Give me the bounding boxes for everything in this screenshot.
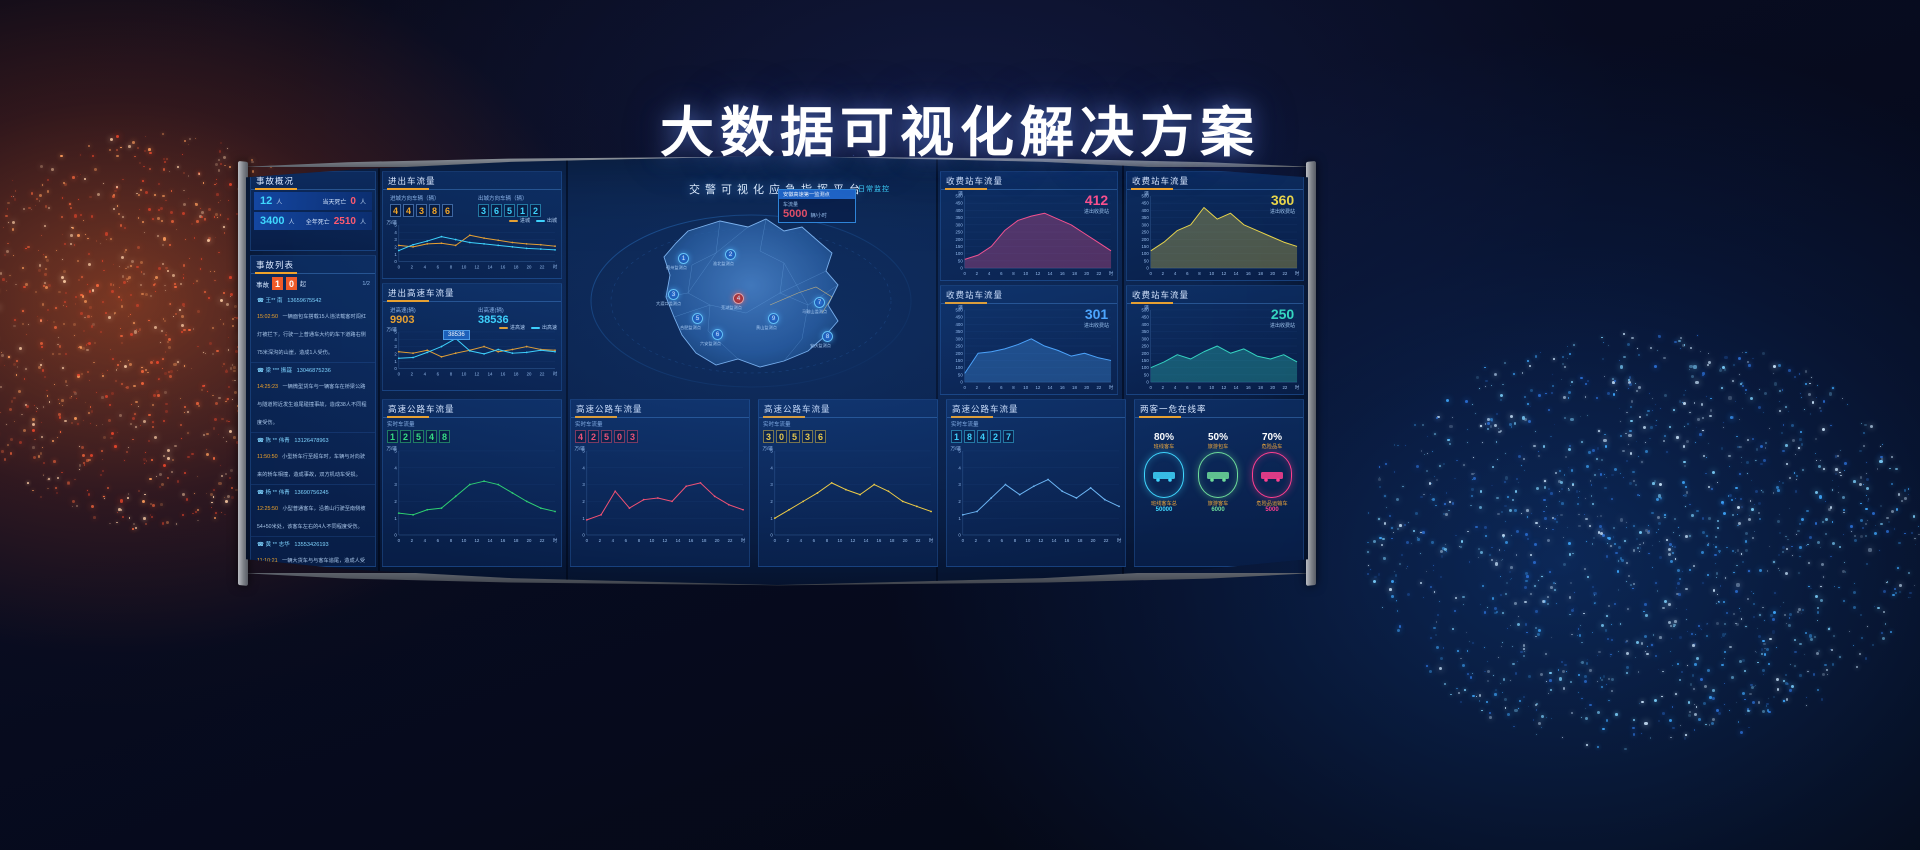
svg-text:100: 100	[956, 251, 964, 256]
svg-text:16: 16	[1246, 385, 1251, 390]
digit-cell: 8	[429, 204, 440, 217]
svg-text:14: 14	[1052, 538, 1057, 543]
svg-text:20: 20	[527, 371, 532, 376]
svg-text:4: 4	[394, 337, 397, 342]
svg-text:0: 0	[586, 538, 589, 543]
svg-text:18: 18	[514, 538, 519, 543]
panel-toll-station-1: 收费站车流量 412 进出收费站 50045040035030025020015…	[940, 171, 1118, 281]
svg-text:4: 4	[770, 465, 773, 470]
svg-text:2: 2	[411, 371, 414, 376]
map-marker[interactable]: 3	[668, 289, 679, 300]
digit-cell: 1	[517, 204, 528, 217]
toll-kpi-4: 250 进出收费站	[1270, 306, 1295, 329]
svg-text:4: 4	[800, 538, 803, 543]
svg-text:2: 2	[394, 244, 397, 249]
svg-text:6: 6	[437, 538, 440, 543]
svg-text:2: 2	[1162, 385, 1165, 390]
svg-text:50: 50	[1144, 258, 1149, 263]
svg-text:万/辆: 万/辆	[763, 445, 774, 452]
svg-text:22: 22	[1096, 271, 1101, 276]
toll-label-4: 进出收费站	[1270, 322, 1295, 329]
svg-text:12: 12	[1221, 271, 1226, 276]
svg-text:300: 300	[1142, 336, 1150, 341]
highway-chart-tooltip: 38536	[443, 330, 470, 340]
svg-text:12: 12	[1221, 385, 1226, 390]
svg-text:18: 18	[1078, 538, 1083, 543]
svg-text:4: 4	[424, 371, 427, 376]
gauge-ring	[1252, 452, 1292, 498]
toll-label-3: 进出收费站	[1084, 322, 1109, 329]
svg-text:300: 300	[956, 222, 964, 227]
dashboard-screen: 交警可视化应急指挥平台 日常监控 南山 2018-0 事故概况 12 人 当天死…	[246, 155, 1308, 585]
svg-text:1: 1	[394, 516, 397, 521]
svg-text:20: 20	[903, 538, 908, 543]
svg-text:2: 2	[975, 538, 978, 543]
today-accident-unit: 人	[276, 197, 282, 206]
svg-text:14: 14	[488, 264, 493, 269]
svg-text:20: 20	[527, 538, 532, 543]
list-item[interactable]: ☎ 陈 ** 伟青 13126478963 11:50:50 小型轿车行至超车时…	[251, 433, 375, 485]
map-marker-label: 芜湖监测点	[721, 305, 742, 311]
svg-text:1: 1	[958, 516, 961, 521]
list-item[interactable]: ☎ 黄 ** 志华 13553426193 11:10:21 一辆大货车与与客车…	[251, 537, 375, 585]
svg-text:0: 0	[774, 538, 777, 543]
svg-text:10: 10	[1023, 385, 1028, 390]
svg-text:2: 2	[411, 264, 414, 269]
svg-text:0: 0	[582, 533, 585, 538]
hw-digits-1: 12548	[383, 428, 561, 445]
svg-text:12: 12	[1035, 385, 1040, 390]
svg-text:20: 20	[527, 264, 532, 269]
map-tooltip-header: 安徽高速第一监测点	[779, 190, 855, 199]
hw-digits-4: 18427	[947, 428, 1125, 445]
inbound-digits: 44386	[386, 202, 470, 219]
svg-text:10: 10	[1023, 271, 1028, 276]
hw-digits-2: 42503	[571, 428, 749, 445]
panel-toll-station-3: 收费站车流量 301 进出收费站 50045040035030025020015…	[940, 285, 1118, 395]
gauge-name: 班线客车总	[1141, 500, 1187, 507]
svg-text:2: 2	[958, 499, 961, 504]
svg-text:4: 4	[424, 538, 427, 543]
svg-text:16: 16	[877, 538, 882, 543]
svg-text:10: 10	[1209, 271, 1214, 276]
svg-text:20: 20	[1084, 385, 1089, 390]
chart-highway-3: 543210万/辆0246810121416182022时	[759, 445, 937, 548]
digit-cell: 5	[413, 430, 424, 443]
hw-title-4: 高速公路车流量	[947, 400, 1125, 418]
scene: 大数据可视化解决方案 交警可视化应急指挥平台 日常监控 南山 2018-0 事故…	[0, 0, 1920, 850]
svg-text:10: 10	[837, 538, 842, 543]
toll-title-1: 收费站车流量	[941, 172, 1117, 190]
svg-text:20: 20	[715, 538, 720, 543]
vehicle-icon	[1206, 468, 1230, 482]
svg-text:22: 22	[1104, 538, 1109, 543]
svg-text:3: 3	[394, 344, 397, 349]
svg-text:10: 10	[461, 371, 466, 376]
digit-cell: 7	[1003, 430, 1014, 443]
svg-text:10: 10	[461, 538, 466, 543]
svg-text:50: 50	[1144, 372, 1149, 377]
svg-text:16: 16	[501, 264, 506, 269]
svg-text:2: 2	[770, 499, 773, 504]
svg-text:12: 12	[1039, 538, 1044, 543]
year-accident-unit: 人	[288, 217, 294, 226]
svg-text:14: 14	[488, 538, 493, 543]
map-marker-label: 黄山监测点	[756, 325, 777, 331]
svg-text:18: 18	[702, 538, 707, 543]
svg-text:450: 450	[1142, 315, 1150, 320]
svg-text:时: 时	[553, 370, 558, 376]
map-tooltip-unit: 辆/小时	[810, 212, 826, 219]
digit-cell: 3	[627, 430, 638, 443]
svg-text:时: 时	[929, 537, 934, 543]
svg-text:300: 300	[1142, 222, 1150, 227]
page-title: 大数据可视化解决方案	[0, 88, 1920, 167]
map-marker[interactable]: 1	[678, 253, 689, 264]
svg-text:50: 50	[958, 372, 963, 377]
accident-time: 14:25:23	[257, 384, 278, 390]
digit-cell: 1	[387, 430, 398, 443]
svg-text:16: 16	[689, 538, 694, 543]
svg-text:4: 4	[394, 230, 397, 235]
svg-text:22: 22	[916, 538, 921, 543]
list-item[interactable]: ☎ 杨 ** 伟青 13690756245 12:25:50 小型普通客车，沿着…	[251, 485, 375, 537]
svg-text:16: 16	[1246, 271, 1251, 276]
svg-text:0: 0	[394, 533, 397, 538]
svg-text:18: 18	[1072, 271, 1077, 276]
highway-in-out-title: 进出高速车流量	[383, 284, 561, 302]
hw-title-3: 高速公路车流量	[759, 400, 937, 418]
accident-count-row: 事故 1 0 起 1/2	[251, 274, 375, 293]
accident-list-page[interactable]: 1/2	[362, 281, 370, 287]
svg-text:6: 6	[1186, 271, 1189, 276]
svg-text:250: 250	[1142, 344, 1150, 349]
digit-cell: 4	[977, 430, 988, 443]
map-marker-label: 淮北监测点	[713, 261, 734, 267]
svg-text:1: 1	[582, 516, 585, 521]
digit-cell: 5	[601, 430, 612, 443]
svg-text:0: 0	[964, 271, 967, 276]
svg-text:8: 8	[638, 538, 641, 543]
svg-text:6: 6	[437, 371, 440, 376]
toll-kpi-1: 412 进出收费站	[1084, 192, 1109, 215]
svg-text:时: 时	[741, 537, 746, 543]
svg-text:22: 22	[1096, 385, 1101, 390]
toll-value-4: 250	[1270, 306, 1295, 322]
toll-value-1: 412	[1084, 192, 1109, 208]
svg-text:3: 3	[770, 482, 773, 487]
svg-text:辆: 辆	[1144, 190, 1149, 197]
svg-text:22: 22	[540, 264, 545, 269]
svg-text:6: 6	[1001, 538, 1004, 543]
today-death-value: 0	[350, 196, 356, 207]
accident-overview-title: 事故概况	[251, 172, 375, 190]
svg-text:0: 0	[960, 380, 963, 385]
enter-highway-metric: 进高速(辆) 9903	[386, 304, 470, 326]
svg-text:6: 6	[437, 264, 440, 269]
svg-text:2: 2	[582, 499, 585, 504]
svg-text:200: 200	[1142, 237, 1150, 242]
toll-value-2: 360	[1270, 192, 1295, 208]
panel-accident-list: 事故列表 事故 1 0 起 1/2 ☎ 王** 南 13659675542 15…	[250, 255, 376, 567]
list-item[interactable]: ☎ 梁 *** 振嶷 13046875236 14:25:23 一辆微型货车与一…	[251, 363, 375, 433]
svg-text:万/辆: 万/辆	[387, 219, 398, 226]
gauge-name: 危险品运输车	[1249, 500, 1295, 507]
gauge-name: 旅游客车	[1195, 500, 1241, 507]
digit-cell: 3	[802, 430, 813, 443]
svg-text:16: 16	[501, 371, 506, 376]
svg-text:4: 4	[582, 465, 585, 470]
map-marker-label: 马鞍山监测点	[802, 309, 827, 315]
exit-highway-label: 出高速(辆)	[474, 304, 558, 314]
map-marker[interactable]: 7	[814, 297, 825, 308]
svg-text:100: 100	[1142, 365, 1150, 370]
accident-time: 11:10:21	[257, 558, 278, 564]
map-marker[interactable]: 6	[712, 329, 723, 340]
panel-accident-overview: 事故概况 12 人 当天死亡 0 人 3400 人 全年死亡 2510 人	[250, 171, 376, 251]
svg-text:辆: 辆	[958, 190, 963, 197]
svg-text:0: 0	[958, 533, 961, 538]
svg-text:22: 22	[540, 371, 545, 376]
svg-text:10: 10	[461, 264, 466, 269]
map-marker-label: 合肥监测点	[680, 325, 701, 331]
toll-title-3: 收费站车流量	[941, 286, 1117, 304]
svg-text:20: 20	[1270, 271, 1275, 276]
svg-text:3: 3	[582, 482, 585, 487]
svg-text:6: 6	[1000, 385, 1003, 390]
accident-contact: ☎ 黄 ** 志华 13553426193	[257, 540, 369, 548]
svg-text:8: 8	[826, 538, 829, 543]
svg-text:18: 18	[890, 538, 895, 543]
svg-text:350: 350	[956, 215, 964, 220]
gauge-percent: 80%	[1141, 432, 1187, 443]
svg-text:时: 时	[553, 537, 558, 543]
svg-text:0: 0	[398, 264, 401, 269]
svg-text:250: 250	[956, 344, 964, 349]
svg-text:22: 22	[1282, 271, 1287, 276]
dashboard-subtitle[interactable]: 日常监控	[858, 184, 890, 194]
svg-text:22: 22	[1282, 385, 1287, 390]
svg-text:4: 4	[394, 465, 397, 470]
hw-sub-4: 实时车流量	[947, 418, 1125, 428]
svg-text:10: 10	[1209, 385, 1214, 390]
svg-text:150: 150	[1142, 244, 1150, 249]
svg-text:4: 4	[988, 271, 991, 276]
svg-text:时: 时	[1109, 270, 1114, 276]
today-death-unit: 人	[360, 197, 366, 206]
svg-text:6: 6	[625, 538, 628, 543]
hw-title-2: 高速公路车流量	[571, 400, 749, 418]
svg-text:200: 200	[1142, 351, 1150, 356]
svg-text:1: 1	[394, 359, 397, 364]
svg-text:4: 4	[424, 264, 427, 269]
svg-text:350: 350	[1142, 215, 1150, 220]
hw-title-1: 高速公路车流量	[383, 400, 561, 418]
in-out-flow-title: 进出车流量	[383, 172, 561, 190]
svg-text:8: 8	[450, 538, 453, 543]
outbound-metric: 出城方向车辆（辆） 36512	[474, 192, 558, 219]
svg-text:8: 8	[1014, 538, 1017, 543]
svg-text:400: 400	[956, 322, 964, 327]
gauge-label: 旅游包车	[1195, 443, 1241, 450]
svg-text:20: 20	[1270, 385, 1275, 390]
enter-highway-label: 进高速(辆)	[386, 304, 470, 314]
svg-text:300: 300	[956, 336, 964, 341]
digit-cell: 4	[575, 430, 586, 443]
svg-text:6: 6	[1000, 271, 1003, 276]
svg-text:4: 4	[612, 538, 615, 543]
digit-cell: 4	[426, 430, 437, 443]
gauge-group: 80% 班线客车 班线客车总 50000 50% 旅游包车 旅游客车 6000 …	[1135, 418, 1303, 558]
gauge-ring	[1144, 452, 1184, 498]
map-marker[interactable]: 4	[733, 293, 744, 304]
svg-text:150: 150	[956, 358, 964, 363]
accident-stat-row: 12 人 当天死亡 0 人	[254, 192, 372, 210]
accident-desc: 一辆大货车与与客车追尾，造成人受伤，大货车继续撞损右前方车辆下公路约60米左右，…	[257, 558, 367, 585]
accident-list-title: 事故列表	[251, 256, 375, 274]
svg-text:0: 0	[394, 366, 397, 371]
accident-count-digit: 0	[286, 277, 297, 290]
gauge-label: 危险品车	[1249, 443, 1295, 450]
digit-cell: 2	[990, 430, 1001, 443]
map-tooltip: 安徽高速第一监测点 车流量 5000 辆/小时	[778, 189, 856, 223]
digit-cell: 0	[614, 430, 625, 443]
svg-text:万/辆: 万/辆	[951, 445, 962, 452]
map-marker[interactable]: 2	[725, 249, 736, 260]
online-rate-title: 两客一危在线率	[1135, 400, 1303, 418]
hw-digits-3: 30536	[759, 428, 937, 445]
svg-text:150: 150	[1142, 358, 1150, 363]
accident-desc: 一辆面包车搭载15人违法载客时闯红灯被拦下，行驶一上普通车大约的车下道路右侧75…	[257, 314, 366, 356]
svg-text:0: 0	[1150, 271, 1153, 276]
list-item[interactable]: ☎ 王** 南 13659675542 15:02:50 一辆面包车搭载15人违…	[251, 293, 375, 363]
hw-sub-1: 实时车流量	[383, 418, 561, 428]
svg-text:8: 8	[450, 371, 453, 376]
svg-text:8: 8	[1198, 271, 1201, 276]
hw-sub-2: 实时车流量	[571, 418, 749, 428]
digit-cell: 2	[530, 204, 541, 217]
panel-highway-flow-2: 高速公路车流量 实时车流量 42503 543210万/辆02468101214…	[570, 399, 750, 567]
svg-text:万/辆: 万/辆	[387, 445, 398, 452]
legend-in: 进城	[520, 217, 530, 224]
svg-text:150: 150	[956, 244, 964, 249]
svg-text:时: 时	[553, 263, 558, 269]
gauge-percent: 70%	[1249, 432, 1295, 443]
map-marker-label: 安庆监测点	[810, 343, 831, 349]
svg-text:12: 12	[1035, 271, 1040, 276]
svg-text:18: 18	[1258, 385, 1263, 390]
map-marker[interactable]: 8	[822, 331, 833, 342]
svg-text:22: 22	[540, 538, 545, 543]
svg-text:万/辆: 万/辆	[575, 445, 586, 452]
svg-text:6: 6	[1186, 385, 1189, 390]
chart-highway-4: 543210万/辆0246810121416182022时	[947, 445, 1125, 548]
map-marker[interactable]: 9	[768, 313, 779, 324]
gauge-1: 80% 班线客车 班线客车总 50000	[1141, 432, 1187, 513]
digit-cell: 1	[951, 430, 962, 443]
inbound-metric: 进城方向车辆（辆） 44386	[386, 192, 470, 219]
toll-kpi-3: 301 进出收费站	[1084, 306, 1109, 329]
svg-text:16: 16	[1065, 538, 1070, 543]
svg-text:12: 12	[851, 538, 856, 543]
digit-cell: 8	[964, 430, 975, 443]
svg-text:0: 0	[394, 259, 397, 264]
map-container[interactable]: 1 宿州监测点 2 淮北监测点 3 大渡口监测点 4 芜湖监测点 5 合肥监测点…	[570, 201, 932, 397]
svg-text:250: 250	[956, 230, 964, 235]
in-out-legend: 进城 出城	[509, 217, 557, 224]
digit-cell: 2	[588, 430, 599, 443]
map-tooltip-label: 车流量	[783, 201, 851, 208]
digit-cell: 3	[416, 204, 427, 217]
chart-highway-in-out: 543210万/辆0246810121416182022时	[383, 326, 561, 381]
digit-cell: 5	[504, 204, 515, 217]
map-marker-label: 大渡口监测点	[656, 301, 681, 307]
svg-text:400: 400	[956, 208, 964, 213]
svg-text:450: 450	[1142, 201, 1150, 206]
svg-text:1: 1	[770, 516, 773, 521]
panel-highway-flow-3: 高速公路车流量 实时车流量 30536 543210万/辆02468101214…	[758, 399, 938, 567]
accident-items[interactable]: ☎ 王** 南 13659675542 15:02:50 一辆面包车搭载15人违…	[251, 293, 375, 585]
panel-highway-flow-4: 高速公路车流量 实时车流量 18427 543210万/辆02468101214…	[946, 399, 1126, 567]
gauge-3: 70% 危险品车 危险品运输车 5000	[1249, 432, 1295, 513]
svg-text:2: 2	[1162, 271, 1165, 276]
digit-cell: 6	[442, 204, 453, 217]
svg-text:18: 18	[1258, 271, 1263, 276]
svg-text:14: 14	[676, 538, 681, 543]
map-marker-label: 宿州监测点	[666, 265, 687, 271]
map-marker[interactable]: 5	[692, 313, 703, 324]
svg-text:16: 16	[501, 538, 506, 543]
accident-stat-row: 3400 人 全年死亡 2510 人	[254, 212, 372, 230]
svg-text:2: 2	[976, 385, 979, 390]
accident-time: 15:02:50	[257, 314, 278, 320]
accident-contact: ☎ 梁 *** 振嶷 13046875236	[257, 366, 369, 374]
digit-cell: 4	[390, 204, 401, 217]
svg-text:20: 20	[1084, 271, 1089, 276]
map-marker-label: 六安监测点	[700, 341, 721, 347]
svg-text:8: 8	[450, 264, 453, 269]
svg-text:400: 400	[1142, 208, 1150, 213]
digit-cell: 2	[400, 430, 411, 443]
accident-contact: ☎ 王** 南 13659675542	[257, 296, 369, 304]
svg-text:350: 350	[1142, 329, 1150, 334]
accident-count-digit: 1	[272, 277, 283, 290]
panel-online-rate: 两客一危在线率 80% 班线客车 班线客车总 50000 50% 旅游包车 旅游…	[1134, 399, 1304, 567]
svg-text:400: 400	[1142, 322, 1150, 327]
toll-value-3: 301	[1084, 306, 1109, 322]
chart-highway-2: 543210万/辆0246810121416182022时	[571, 445, 749, 548]
toll-label-1: 进出收费站	[1084, 208, 1109, 215]
gauge-ring	[1198, 452, 1238, 498]
svg-text:辆: 辆	[1144, 304, 1149, 311]
digit-cell: 5	[789, 430, 800, 443]
svg-text:2: 2	[394, 351, 397, 356]
svg-text:2: 2	[599, 538, 602, 543]
svg-text:0: 0	[770, 533, 773, 538]
svg-text:12: 12	[475, 264, 480, 269]
digit-cell: 0	[776, 430, 787, 443]
svg-text:100: 100	[1142, 251, 1150, 256]
vehicle-icon	[1260, 468, 1284, 482]
svg-text:时: 时	[1109, 384, 1114, 390]
gauge-number: 50000	[1141, 507, 1187, 513]
svg-text:0: 0	[398, 538, 401, 543]
svg-text:3: 3	[394, 237, 397, 242]
svg-text:4: 4	[1174, 385, 1177, 390]
map-tooltip-value: 5000	[783, 208, 807, 220]
digit-cell: 8	[439, 430, 450, 443]
svg-text:8: 8	[1012, 385, 1015, 390]
